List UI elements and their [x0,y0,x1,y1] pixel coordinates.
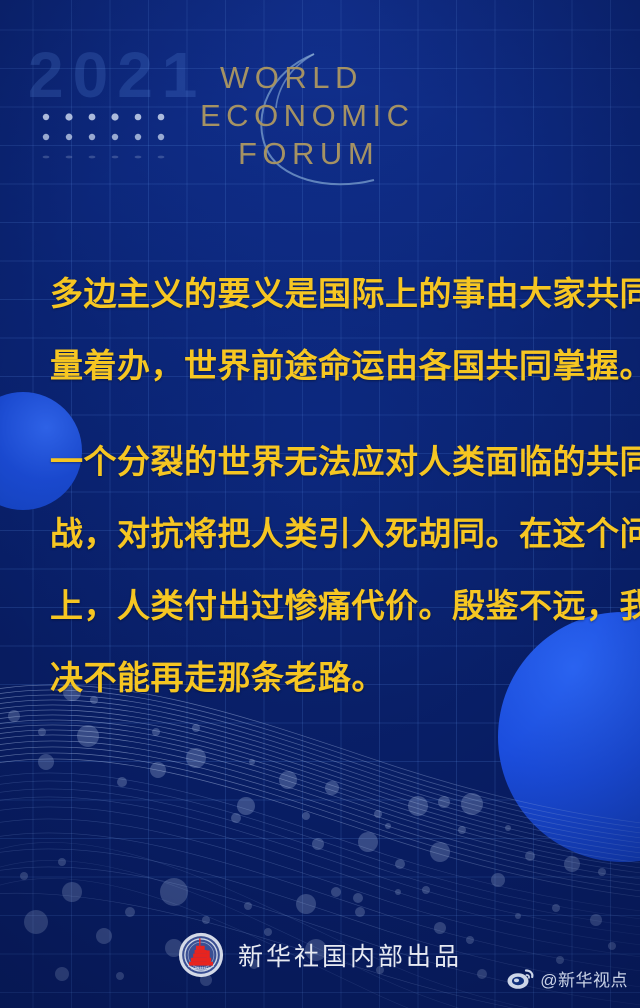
wef-line-forum: FORUM [238,136,379,172]
wef-line-world: WORLD [220,60,363,96]
xinhua-logo-icon: XINHUA [178,932,224,978]
svg-text:XINHUA: XINHUA [191,966,211,971]
weibo-handle-label: @新华视点 [540,966,628,991]
quote-line: 战，对抗将把人类引入死胡同。在这个问题 [50,498,606,570]
quote-line: 一个分裂的世界无法应对人类面临的共同挑 [50,426,606,498]
dot-grid-decoration [42,112,168,174]
world-economic-forum-logo: WORLD ECONOMIC FORUM [196,52,426,192]
weibo-watermark[interactable]: @新华视点 [507,966,628,991]
producer-label: 新华社国内部出品 [238,937,462,973]
poster-canvas: 2021 WORLD ECONO [0,0,640,1008]
quote-line: 决不能再走那条老路。 [50,642,606,714]
weibo-icon [507,968,535,990]
quote-line: 量着办，世界前途命运由各国共同掌握。 [50,330,606,402]
poster-header: 2021 WORLD ECONO [0,0,640,205]
wef-line-economic: ECONOMIC [200,98,415,134]
quote-line: 上，人类付出过惨痛代价。殷鉴不远，我们 [50,570,606,642]
quote-line: 多边主义的要义是国际上的事由大家共同商 [50,258,606,330]
year-label: 2021 [28,38,206,112]
paragraph-gap [50,402,606,426]
quote-block: 多边主义的要义是国际上的事由大家共同商 量着办，世界前途命运由各国共同掌握。 一… [50,258,606,714]
